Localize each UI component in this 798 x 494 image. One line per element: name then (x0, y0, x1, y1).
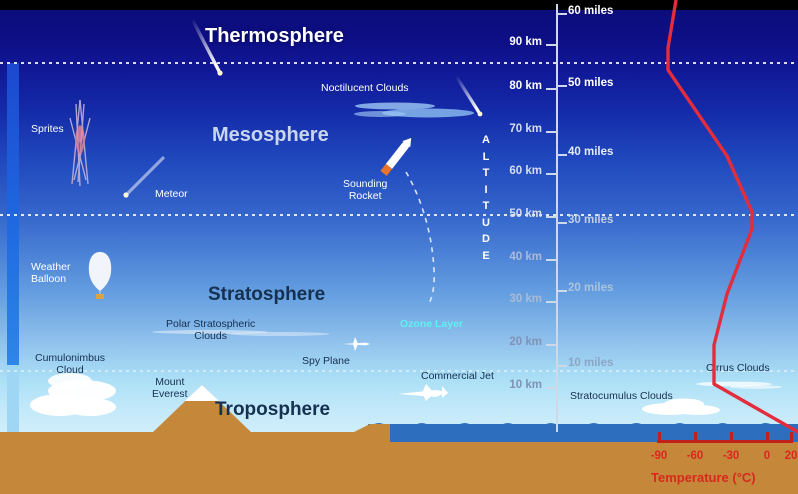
label-sounding-rocket: Sounding Rocket (343, 178, 387, 202)
altitude-axis-caption: ALTITUDE (479, 132, 493, 264)
altitude-km-label: 10 km (470, 379, 542, 391)
altitude-km-tick (546, 301, 558, 303)
temperature-axis-tick (658, 432, 661, 443)
temperature-axis-tick-label: -60 (682, 450, 708, 462)
altitude-mile-tick (556, 13, 567, 15)
label-everest-line2: Everest (152, 388, 188, 400)
label-meteor: Meteor (155, 188, 188, 200)
label-psc-line1: Polar Stratospheric (166, 318, 255, 330)
altitude-km-label: 40 km (470, 251, 542, 263)
label-psc-line2: Clouds (166, 330, 255, 342)
altitude-km-tick (546, 44, 558, 46)
label-ozone-layer: Ozone Layer (400, 318, 463, 330)
label-sounding-rocket-line1: Sounding (343, 178, 387, 190)
mount-everest-snowcap (185, 385, 219, 401)
layer-label-stratosphere: Stratosphere (208, 284, 325, 306)
label-cumulonimbus-cloud: Cumulonimbus Cloud (35, 352, 105, 376)
label-noctilucent-clouds: Noctilucent Clouds (321, 82, 409, 94)
altitude-mile-label: 20 miles (568, 282, 613, 294)
temperature-axis-tick (790, 432, 793, 443)
label-cirrus-clouds: Cirrus Clouds (706, 362, 770, 374)
top-black-band (0, 0, 798, 10)
atmosphere-diagram: Thermosphere Mesosphere Stratosphere Tro… (0, 0, 798, 494)
label-stratocumulus-clouds: Stratocumulus Clouds (570, 390, 673, 402)
altitude-mile-tick (556, 154, 567, 156)
label-weather-balloon: Weather Balloon (31, 261, 71, 285)
altitude-km-label: 90 km (470, 36, 542, 48)
altitude-mile-label: 40 miles (568, 146, 613, 158)
layer-label-troposphere: Troposphere (215, 399, 330, 421)
cirrus-cloud-icon (694, 378, 789, 390)
altitude-caption-letter: I (479, 182, 493, 199)
temperature-axis-tick (730, 432, 733, 443)
temperature-axis-tick-label: -30 (718, 450, 744, 462)
temperature-axis-tick (766, 432, 769, 443)
altitude-mile-label: 60 miles (568, 5, 613, 17)
shoreline (330, 418, 390, 444)
temperature-axis-title: Temperature (°C) (651, 470, 756, 485)
label-weather-balloon-line2: Balloon (31, 273, 71, 285)
altitude-km-tick (546, 387, 558, 389)
temperature-axis-tick (694, 432, 697, 443)
altitude-mile-tick (556, 290, 567, 292)
left-color-strip-lower (7, 365, 19, 432)
label-weather-balloon-line1: Weather (31, 261, 71, 273)
altitude-km-label: 80 km (470, 80, 542, 92)
temperature-axis-tick-label: -90 (646, 450, 672, 462)
label-polar-stratospheric-clouds: Polar Stratospheric Clouds (166, 318, 255, 342)
altitude-mile-tick (556, 85, 567, 87)
altitude-caption-letter: D (479, 231, 493, 248)
altitude-km-label: 30 km (470, 293, 542, 305)
label-mount-everest: Mount Everest (152, 376, 188, 400)
altitude-caption-letter: L (479, 149, 493, 166)
sprites-icon (58, 94, 102, 190)
weather-balloon-icon (85, 250, 115, 302)
tropopause-boundary (0, 370, 798, 372)
label-spy-plane: Spy Plane (302, 355, 350, 367)
temperature-axis-bar (657, 440, 793, 443)
altitude-km-tick (546, 131, 558, 133)
altitude-km-tick (546, 259, 558, 261)
label-cumulonimbus-line2: Cloud (35, 364, 105, 376)
altitude-km-label: 50 km (470, 208, 542, 220)
altitude-km-label: 60 km (470, 165, 542, 177)
altitude-mile-label: 30 miles (568, 214, 613, 226)
stratopause-boundary (0, 214, 798, 216)
altitude-km-tick (546, 216, 558, 218)
altitude-km-label: 20 km (470, 336, 542, 348)
altitude-mile-label: 10 miles (568, 357, 613, 369)
altitude-km-tick (546, 173, 558, 175)
altitude-mile-tick (556, 222, 567, 224)
altitude-axis-line (556, 4, 558, 432)
layer-label-mesosphere: Mesosphere (212, 124, 329, 147)
altitude-km-label: 70 km (470, 123, 542, 135)
layer-label-thermosphere: Thermosphere (205, 25, 344, 48)
sounding-rocket-icon (370, 138, 480, 308)
temperature-axis-tick-label: 20 (778, 450, 798, 462)
altitude-mile-label: 50 miles (568, 77, 613, 89)
temperature-axis-tick-label: 0 (754, 450, 780, 462)
label-sprites: Sprites (31, 123, 64, 135)
label-everest-line1: Mount (152, 376, 188, 388)
commercial-jet-icon (396, 382, 452, 404)
spy-plane-icon (340, 336, 374, 352)
altitude-mile-tick (556, 365, 567, 367)
altitude-km-tick (546, 88, 558, 90)
label-sounding-rocket-line2: Rocket (343, 190, 387, 202)
label-cumulonimbus-line1: Cumulonimbus (35, 352, 105, 364)
mesopause-boundary (0, 62, 798, 64)
altitude-km-tick (546, 344, 558, 346)
